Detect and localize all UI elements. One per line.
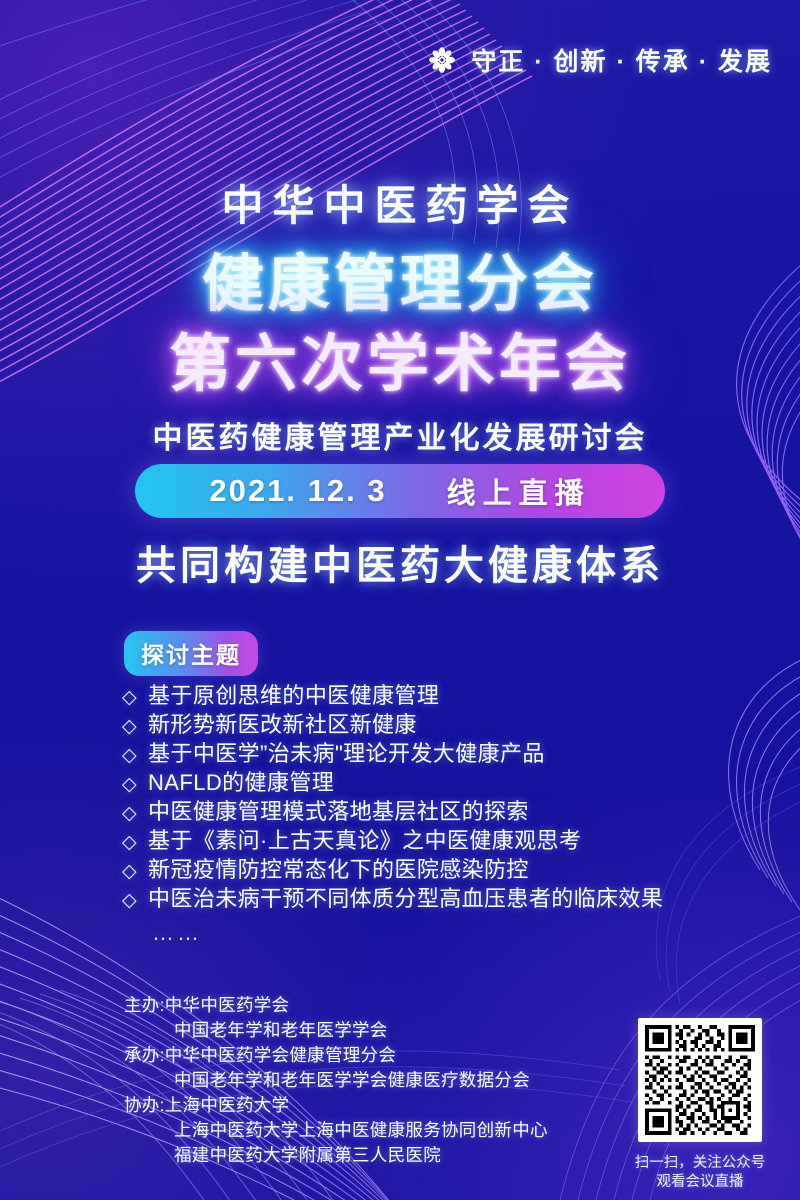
topic-label: 新冠疫情防控常态化下的医院感染防控 (148, 852, 529, 884)
topic-item: ◇ 中医健康管理模式落地基层社区的探索 (122, 794, 782, 823)
qr-code-matrix (645, 1025, 755, 1135)
header-slogan-bar: 守正 · 创新 · 传承 · 发展 (0, 42, 800, 78)
topics-list: ◇ 基于原创思维的中医健康管理 ◇ 新形势新医改新社区新健康 ◇ 基于中医学”治… (122, 678, 782, 946)
date-pill-wrapper: 2021. 12. 3 线上直播 (0, 464, 800, 518)
event-mode: 线上直播 (447, 470, 591, 512)
topic-item: ◇ 新冠疫情防控常态化下的医院感染防控 (122, 852, 782, 881)
topic-label: 基于《素问·上古天真论》之中医健康观思考 (148, 823, 581, 855)
qr-code-icon[interactable] (638, 1018, 762, 1142)
qr-caption: 扫一扫，关注公众号 观看会议直播 (619, 1154, 781, 1192)
diamond-bullet-icon: ◇ (122, 775, 137, 794)
organizer-line: 协办:上海中医药大学 (124, 1093, 594, 1118)
organizer-line: 主办:中华中医药学会 (124, 993, 594, 1018)
organizer-block: 主办:中华中医药学会 中国老年学和老年医学学会 承办:中华中医药学会健康管理分会… (124, 993, 594, 1168)
date-mode-pill: 2021. 12. 3 线上直播 (135, 464, 665, 518)
diamond-bullet-icon: ◇ (122, 891, 137, 910)
organization-title: 中华中医药学会 (0, 172, 800, 233)
topic-item: ◇ 基于中医学”治未病"理论开发大健康产品 (122, 736, 782, 765)
diamond-bullet-icon: ◇ (122, 833, 137, 852)
topic-item: ◇ NAFLD的健康管理 (122, 765, 782, 794)
topic-item: ◇ 基于原创思维的中医健康管理 (122, 678, 782, 707)
topics-badge-wrapper: 探讨主题 (124, 631, 258, 676)
topic-item: ◇ 新形势新医改新社区新健康 (122, 707, 782, 736)
branch-title: 健康管理分会 (0, 233, 800, 323)
diamond-bullet-icon: ◇ (122, 717, 137, 736)
theme-line: 中医药健康管理产业化发展研讨会 (0, 413, 800, 457)
topic-label: 中医治未病干预不同体质分型高血压患者的临床效果 (148, 881, 663, 913)
topic-label: 基于原创思维的中医健康管理 (148, 678, 439, 710)
qr-caption-line-2: 观看会议直播 (619, 1173, 781, 1192)
topics-more-ellipsis: …… (122, 920, 782, 946)
diamond-bullet-icon: ◇ (122, 746, 137, 765)
event-title: 第六次学术年会 (0, 313, 800, 403)
diamond-bullet-icon: ◇ (122, 804, 137, 823)
organizer-line: 福建中医药大学附属第三人民医院 (124, 1143, 594, 1168)
diamond-bullet-icon: ◇ (122, 862, 137, 881)
poster-root: 守正 · 创新 · 传承 · 发展 中华中医药学会 健康管理分会 第六次学术年会… (0, 0, 800, 1200)
organizer-line: 上海中医药大学上海中医健康服务协同创新中心 (124, 1118, 594, 1143)
topic-label: 中医健康管理模式落地基层社区的探索 (148, 794, 529, 826)
topic-label: 基于中医学”治未病"理论开发大健康产品 (148, 736, 545, 768)
organizer-line: 承办:中华中医药学会健康管理分会 (124, 1043, 594, 1068)
header-slogan-text: 守正 · 创新 · 传承 · 发展 (471, 42, 772, 78)
topics-badge: 探讨主题 (124, 631, 258, 676)
topic-item: ◇ 基于《素问·上古天真论》之中医健康观思考 (122, 823, 782, 852)
event-date: 2021. 12. 3 (209, 473, 386, 509)
topic-label: 新形势新医改新社区新健康 (148, 707, 417, 739)
qr-block: 扫一扫，关注公众号 观看会议直播 (619, 1018, 781, 1192)
main-slogan: 共同构建中医药大健康体系 (0, 533, 800, 591)
qr-caption-line-1: 扫一扫，关注公众号 (619, 1154, 781, 1173)
topic-item: ◇ 中医治未病干预不同体质分型高血压患者的临床效果 (122, 881, 782, 910)
diamond-bullet-icon: ◇ (122, 688, 137, 707)
flower-emblem-icon (427, 45, 457, 75)
topic-label: NAFLD的健康管理 (148, 765, 334, 797)
organizer-line: 中国老年学和老年医学学会 (124, 1018, 594, 1043)
organizer-line: 中国老年学和老年医学学会健康医疗数据分会 (124, 1068, 594, 1093)
